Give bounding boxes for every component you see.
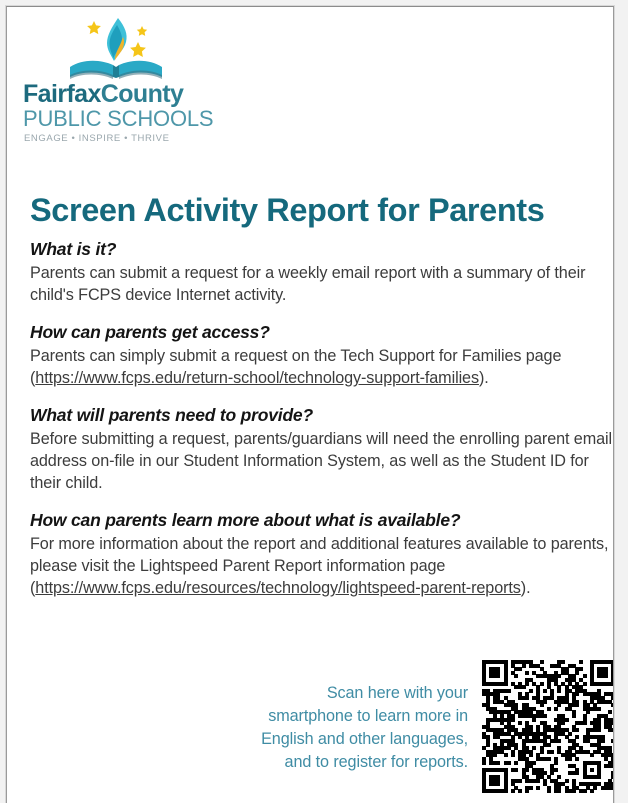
- section-how-get-access: How can parents get access? Parents can …: [30, 322, 614, 389]
- document-page: FairfaxCounty PUBLIC SCHOOLS ENGAGE • IN…: [6, 6, 614, 803]
- qr-block: Scan here with your smartphone to learn …: [227, 660, 614, 793]
- qr-caption-line: and to register for reports.: [261, 751, 468, 774]
- section-body-text-after: ).: [479, 369, 489, 387]
- logo-line-2: PUBLIC SCHOOLS: [21, 108, 211, 130]
- qr-caption-line: Scan here with your: [261, 682, 468, 705]
- tech-support-families-link[interactable]: https://www.fcps.edu/return-school/techn…: [35, 369, 479, 387]
- qr-caption-line: smartphone to learn more in: [261, 705, 468, 728]
- section-heading: What will parents need to provide?: [30, 405, 614, 426]
- section-learn-more: How can parents learn more about what is…: [30, 510, 614, 599]
- logo-county: County: [101, 80, 184, 108]
- section-body: For more information about the report an…: [30, 533, 614, 599]
- logo-tagline: ENGAGE • INSPIRE • THRIVE: [21, 130, 211, 144]
- logo-fairfax: Fairfax: [23, 80, 101, 108]
- section-body-text-after: ).: [521, 579, 531, 597]
- page-title: Screen Activity Report for Parents: [30, 192, 544, 229]
- section-heading: How can parents get access?: [30, 322, 614, 343]
- document-content: FairfaxCounty PUBLIC SCHOOLS ENGAGE • IN…: [7, 7, 613, 803]
- section-heading: How can parents learn more about what is…: [30, 510, 614, 531]
- qr-caption: Scan here with your smartphone to learn …: [261, 660, 468, 774]
- section-what-is-it: What is it? Parents can submit a request…: [30, 239, 614, 306]
- logo-line-1: FairfaxCounty: [21, 82, 211, 108]
- fcps-flame-book-logo-icon: [62, 15, 170, 81]
- qr-code[interactable]: [482, 660, 614, 793]
- fcps-logo: FairfaxCounty PUBLIC SCHOOLS ENGAGE • IN…: [21, 15, 211, 144]
- section-body: Parents can submit a request for a weekl…: [30, 262, 614, 306]
- sections-container: What is it? Parents can submit a request…: [30, 239, 614, 599]
- section-heading: What is it?: [30, 239, 614, 260]
- section-what-to-provide: What will parents need to provide? Befor…: [30, 405, 614, 494]
- qr-caption-line: English and other languages,: [261, 728, 468, 751]
- section-body: Parents can simply submit a request on t…: [30, 345, 614, 389]
- screenshot-root: FairfaxCounty PUBLIC SCHOOLS ENGAGE • IN…: [0, 0, 628, 803]
- section-body: Before submitting a request, parents/gua…: [30, 428, 614, 494]
- lightspeed-parent-reports-link[interactable]: https://www.fcps.edu/resources/technolog…: [35, 579, 520, 597]
